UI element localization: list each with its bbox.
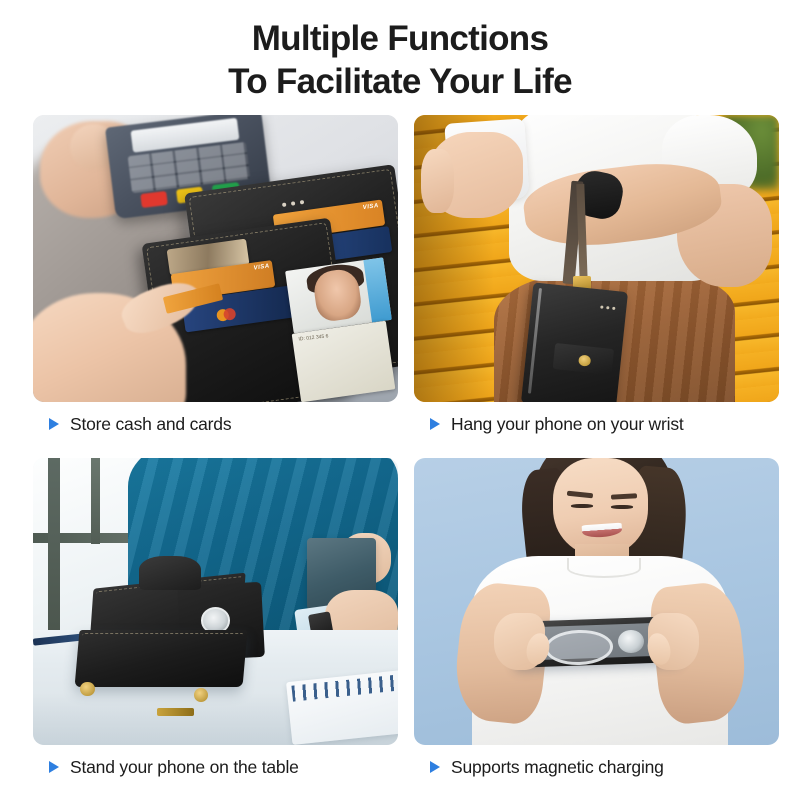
feature-cell-hang-phone-on-wrist: Hang your phone on your wrist [414, 115, 779, 446]
feature-cell-store-cash-and-cards: VISA VISA ID: 012 345 6 [33, 115, 398, 446]
card-logo: VISA [362, 203, 379, 211]
driver-license-text: ID: 012 345 6 [298, 334, 329, 345]
window-mullion [91, 458, 100, 544]
feature-cell-stand-phone-on-table: Stand your phone on the table [33, 458, 398, 789]
case-strap-loop [139, 556, 201, 590]
caption-store-cash-and-cards: Store cash and cards [33, 402, 398, 446]
photo-store-cash-and-cards: VISA VISA ID: 012 345 6 [33, 115, 398, 402]
feature-grid: VISA VISA ID: 012 345 6 [33, 115, 768, 789]
fingers [421, 149, 454, 212]
photo-supports-magnetic-charging [414, 458, 779, 745]
caption-supports-magnetic-charging: Supports magnetic charging [414, 745, 779, 789]
triangle-right-icon [49, 418, 59, 430]
photo-stand-phone-on-table [33, 458, 398, 745]
spiral-notebook [286, 670, 398, 745]
wallet-case-hanging [521, 283, 628, 402]
caption-text: Supports magnetic charging [451, 757, 664, 778]
stitching-detail [78, 633, 244, 684]
face [553, 458, 648, 556]
caption-text: Stand your phone on the table [70, 757, 299, 778]
caption-stand-phone-on-table: Stand your phone on the table [33, 745, 398, 789]
photo-hang-phone-on-wrist [414, 115, 779, 402]
camera-lens [618, 630, 644, 653]
eye-right [611, 505, 633, 509]
caption-hang-phone-on-wrist: Hang your phone on your wrist [414, 402, 779, 446]
title-line-2: To Facilitate Your Life [0, 61, 800, 104]
caption-text: Hang your phone on your wrist [451, 414, 684, 435]
driver-license-card: ID: 012 345 6 [291, 321, 395, 402]
page-title: Multiple Functions To Facilitate Your Li… [0, 0, 800, 103]
mastercard-logo [215, 304, 236, 324]
title-line-1: Multiple Functions [0, 18, 800, 61]
triangle-right-icon [430, 418, 440, 430]
camera-cutout-dots [596, 295, 616, 315]
triangle-right-icon [430, 761, 440, 773]
snap-button-right [194, 688, 209, 702]
caption-text: Store cash and cards [70, 414, 231, 435]
card-logo: VISA [253, 264, 270, 272]
eye-left [571, 504, 593, 508]
wallet-case-base [74, 630, 247, 687]
zipper-pull [157, 708, 194, 717]
terminal-key-red [140, 191, 168, 209]
feature-cell-supports-magnetic-charging: Supports magnetic charging [414, 458, 779, 789]
triangle-right-icon [49, 761, 59, 773]
eyebrow-right [611, 493, 637, 499]
tshirt-collar [567, 558, 640, 577]
